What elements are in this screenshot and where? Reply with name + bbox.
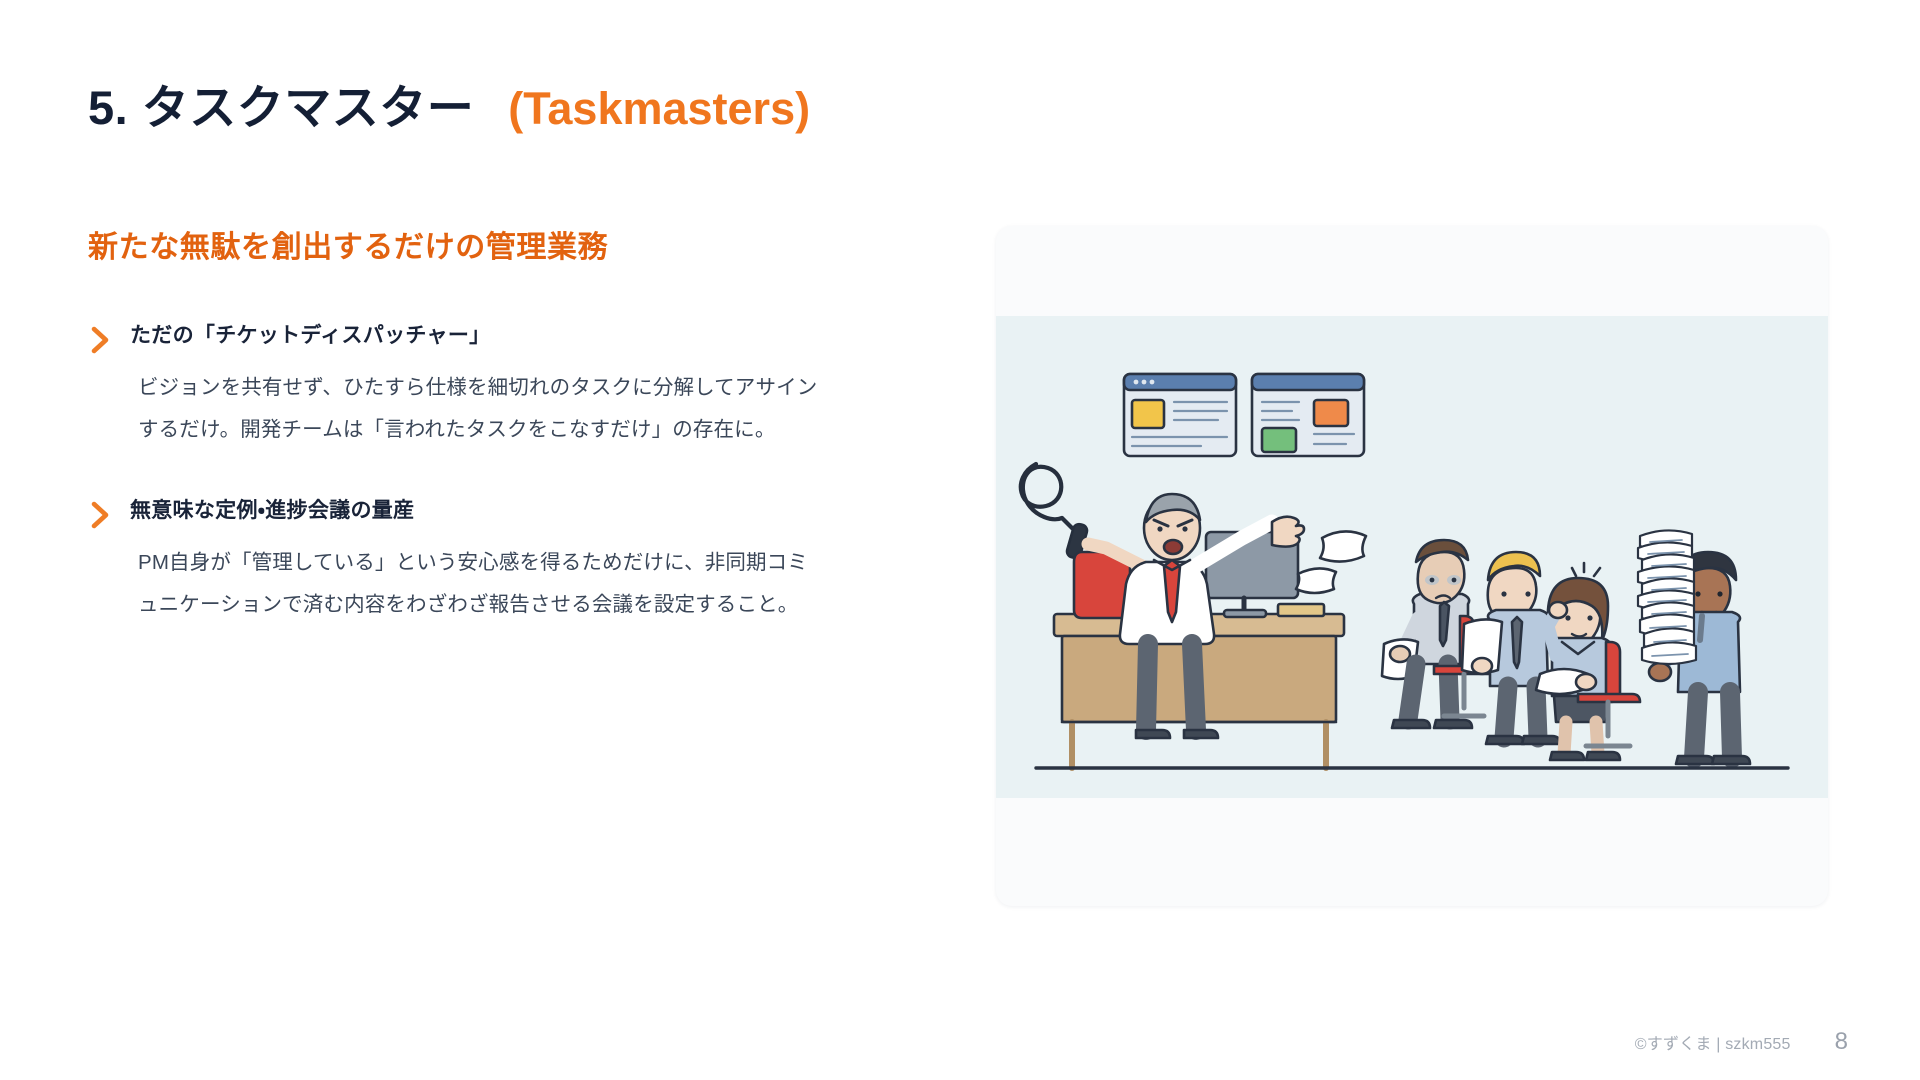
credit-text: ©すずくま | szkm555 <box>1635 1030 1791 1054</box>
slide-footer: ©すずくま | szkm555 8 <box>1635 1028 1848 1056</box>
bullet-list: ただの「チケットディスパッチャー」 ビジョンを共有せず、ひたすら仕様を細切れのタ… <box>88 322 898 626</box>
bullet-body: ビジョンを共有せず、ひたすら仕様を細切れのタスクに分解してアサインするだけ。開発… <box>88 367 828 451</box>
page-title-japanese: 5. タスクマスター <box>88 84 474 131</box>
list-item: ただの「チケットディスパッチャー」 ビジョンを共有せず、ひたすら仕様を細切れのタ… <box>88 322 898 451</box>
chevron-right-icon <box>88 500 122 530</box>
bullet-heading-row: 無意味な定例・進捗会議の量産 <box>88 497 898 530</box>
bullet-title: 無意味な定例・進捗会議の量産 <box>122 497 414 525</box>
bullet-heading-row: ただの「チケットディスパッチャー」 <box>88 322 898 355</box>
page-title-english: (Taskmasters) <box>508 86 810 131</box>
page-number: 8 <box>1835 1028 1848 1056</box>
chevron-right-icon <box>88 325 122 355</box>
illustration-card <box>996 226 1828 906</box>
section-subtitle: 新たな無駄を創出するだけの管理業務 <box>88 230 608 266</box>
bullet-title: ただの「チケットディスパッチャー」 <box>122 322 490 350</box>
slide-root: 5. タスクマスター (Taskmasters) 新たな無駄を創出するだけの管理… <box>0 0 1920 1080</box>
bullet-body: PM自身が「管理している」という安心感を得るためだけに、非同期コミュニケーション… <box>88 542 828 626</box>
page-title: 5. タスクマスター (Taskmasters) <box>88 84 810 131</box>
list-item: 無意味な定例・進捗会議の量産 PM自身が「管理している」という安心感を得るためだ… <box>88 497 898 626</box>
office-scene-illustration <box>996 316 1828 798</box>
